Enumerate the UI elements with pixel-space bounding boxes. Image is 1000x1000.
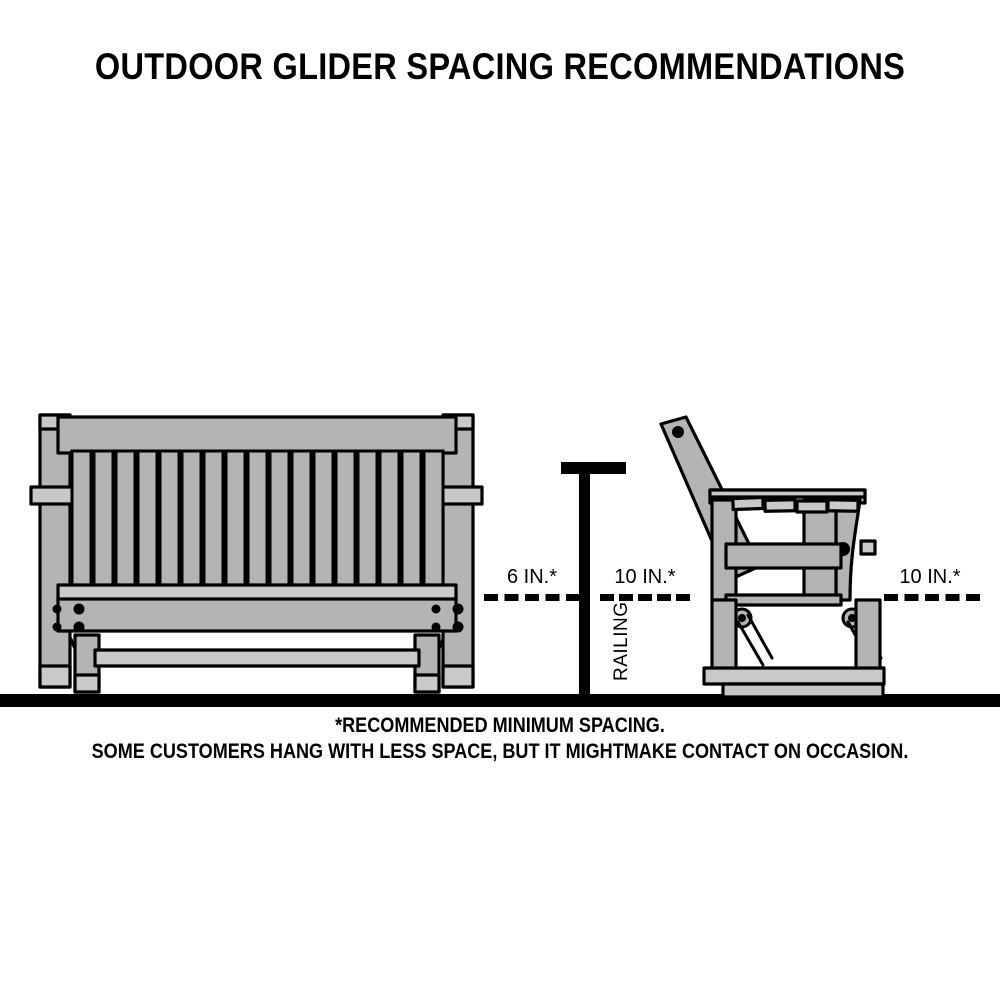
bolt	[53, 623, 62, 632]
bolt	[74, 604, 85, 615]
glider-side-view	[661, 417, 884, 697]
dimension-label-10in-a: 10 IN.*	[600, 566, 690, 589]
back-slat	[226, 451, 245, 587]
back-slat	[160, 451, 179, 587]
front-right-post	[443, 415, 473, 687]
seat-slat	[797, 501, 827, 512]
railing-label: RAILING	[611, 601, 633, 681]
side-arm-nub	[861, 541, 875, 554]
back-slat	[248, 451, 267, 587]
bolt	[432, 605, 441, 614]
back-slat	[292, 451, 311, 587]
back-slat	[138, 451, 157, 587]
back-slat	[94, 451, 113, 587]
back-slat	[424, 451, 443, 587]
side-armrest-top	[710, 490, 865, 497]
back-slat	[72, 451, 91, 587]
seat-slat	[828, 500, 858, 512]
left-swing-arm-b	[748, 615, 772, 658]
front-right-post-foot	[443, 666, 473, 687]
glider-front-view	[31, 415, 482, 692]
side-base-rail	[704, 668, 884, 684]
back-slat	[182, 451, 201, 587]
back-slat	[358, 451, 377, 587]
page-title: OUTDOOR GLIDER SPACING RECOMMENDATIONS	[60, 46, 940, 88]
left-pivot-bolt	[738, 614, 746, 622]
front-back-slats	[72, 451, 443, 587]
dimension-line-10in-b	[884, 594, 980, 601]
bolt	[453, 622, 464, 633]
front-apron	[58, 599, 456, 631]
bolt	[53, 605, 62, 614]
footnote-line-1: *RECOMMENDED MINIMUM SPACING.	[70, 714, 930, 738]
front-left-post	[40, 415, 70, 687]
front-right-base-foot	[415, 675, 439, 692]
left-swing-arm	[738, 622, 763, 665]
railing-upright	[579, 472, 590, 697]
dimension-line-10in-a	[600, 594, 690, 601]
side-rear-leg	[712, 600, 736, 672]
dimension-label-10in-b: 10 IN.*	[885, 566, 975, 589]
front-left-post-foot	[40, 666, 70, 687]
side-seat-slats	[733, 497, 858, 512]
front-right-arm-nub	[438, 487, 482, 504]
railing-cap	[561, 462, 626, 474]
back-slat	[270, 451, 289, 587]
back-slat	[116, 451, 135, 587]
back-slat	[336, 451, 355, 587]
bolt	[432, 623, 441, 632]
seat-slat	[765, 500, 795, 512]
bolt	[453, 604, 464, 615]
back-slat	[380, 451, 399, 587]
front-top-rail	[58, 417, 456, 453]
back-slat	[204, 451, 223, 587]
dimension-label-6in: 6 IN.*	[487, 566, 577, 589]
side-seat-rail	[726, 544, 841, 568]
back-slat	[402, 451, 421, 587]
back-slat	[314, 451, 333, 587]
glider-spacing-diagram: .wood { fill: #b4b4b4; stroke: #000000; …	[0, 0, 1000, 1000]
side-base-skid	[723, 684, 883, 697]
footnote-line-2: SOME CUSTOMERS HANG WITH LESS SPACE, BUT…	[70, 740, 930, 764]
front-left-base-foot	[75, 675, 99, 692]
front-left-arm-nub	[31, 487, 75, 504]
side-lower-rail	[726, 595, 841, 605]
backrest-pivot-bolt	[672, 426, 684, 438]
seat-slat	[733, 497, 763, 509]
front-base-stretcher	[95, 650, 419, 666]
side-front-leg	[856, 600, 880, 672]
dimension-line-6in	[484, 594, 580, 601]
bolt	[74, 622, 85, 633]
